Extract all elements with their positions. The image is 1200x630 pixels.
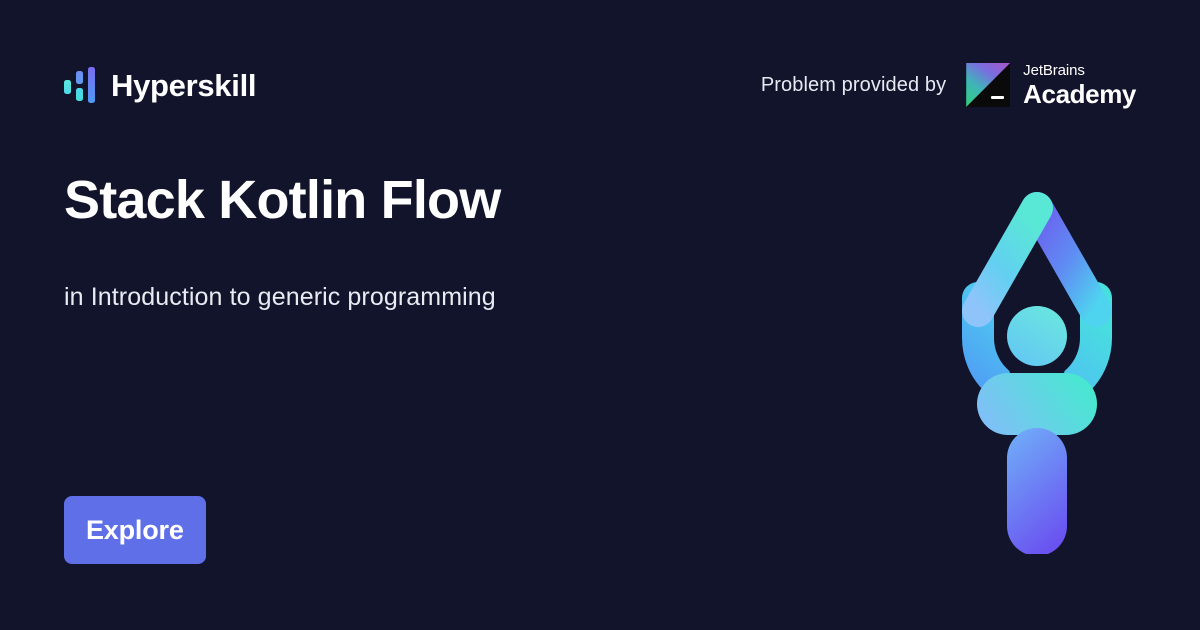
jetbrains-academy-wordmark: JetBrains Academy bbox=[1023, 63, 1136, 107]
jetbrains-logo-icon bbox=[966, 63, 1010, 107]
jetbrains-word: JetBrains bbox=[1023, 63, 1136, 78]
explore-button[interactable]: Explore bbox=[64, 496, 206, 564]
hyperskill-brand[interactable]: Hyperskill bbox=[64, 56, 256, 114]
provider-label: Problem provided by bbox=[761, 74, 946, 97]
emblem-inner-circle bbox=[1007, 306, 1067, 366]
emblem-vertical-bar bbox=[1007, 428, 1067, 554]
logo-bar-left bbox=[64, 80, 71, 94]
jetbrains-logo-underscore bbox=[991, 96, 1004, 99]
header: Hyperskill Problem provided by JetBrains… bbox=[64, 56, 1136, 114]
main-content: Stack Kotlin Flow in Introduction to gen… bbox=[64, 170, 864, 312]
emblem-horizontal-pill bbox=[977, 373, 1097, 435]
academy-word: Academy bbox=[1023, 81, 1136, 107]
torch-emblem-illustration bbox=[962, 186, 1112, 554]
jetbrains-logo-triangle bbox=[966, 63, 1010, 107]
jetbrains-academy-lockup[interactable]: JetBrains Academy bbox=[966, 63, 1136, 107]
hyperskill-logo-icon bbox=[64, 65, 94, 105]
emblem-lambda-left-leg bbox=[978, 208, 1037, 311]
page-subtitle: in Introduction to generic programming bbox=[64, 230, 864, 312]
page-title: Stack Kotlin Flow bbox=[64, 170, 864, 230]
poster-canvas: Hyperskill Problem provided by JetBrains… bbox=[0, 0, 1200, 630]
logo-bar-right bbox=[88, 67, 95, 103]
logo-bar-mid-bottom bbox=[76, 88, 83, 101]
logo-bar-mid-top bbox=[76, 71, 83, 84]
provider-block: Problem provided by JetBrains Academy bbox=[761, 56, 1136, 114]
hyperskill-brand-name: Hyperskill bbox=[111, 70, 256, 101]
